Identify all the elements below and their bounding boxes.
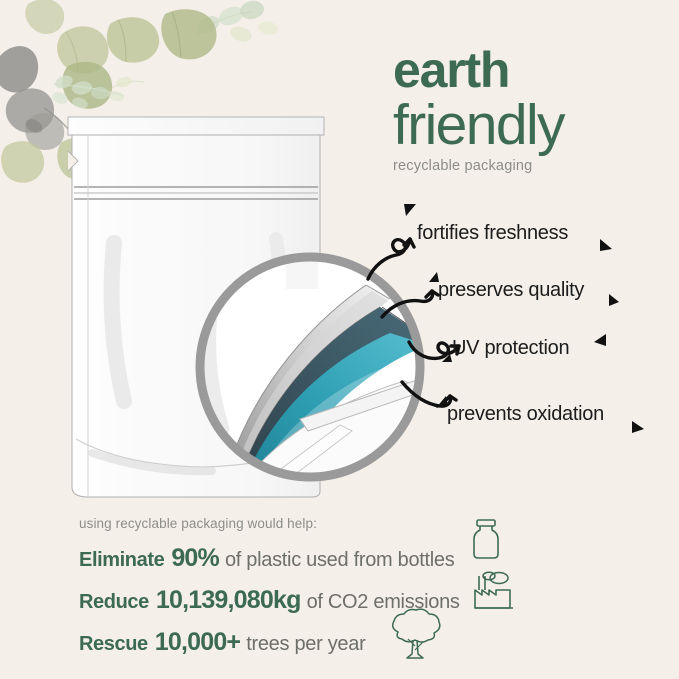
factory-icon (469, 570, 515, 610)
stat-label-reduce: Reduce (79, 591, 149, 614)
stat-value-eliminate: 90% (171, 544, 219, 573)
accent-mark-icon-6 (588, 330, 612, 354)
title-earth: earth (393, 44, 655, 96)
stat-row-rescue: Rescue 10,000+ trees per year (79, 628, 639, 657)
stat-label-rescue: Rescue (79, 633, 148, 656)
bottle-icon (469, 518, 503, 560)
callout-label-preserves-quality: preserves quality (438, 279, 584, 302)
accent-mark-icon-2 (596, 231, 622, 257)
stat-row-eliminate: Eliminate 90% of plastic used from bottl… (79, 544, 639, 573)
infographic-canvas: earth friendly recyclable packaging fort… (0, 0, 679, 679)
stat-rest-eliminate: of plastic used from bottles (225, 549, 455, 572)
callout-label-fortifies-freshness: fortifies freshness (417, 222, 568, 245)
accent-mark-icon-4 (605, 290, 627, 312)
stat-value-rescue: 10,000+ (155, 628, 240, 657)
callout-label-prevents-oxidation: prevents oxidation (447, 403, 604, 426)
stats-intro: using recyclable packaging would help: (79, 516, 639, 531)
stat-label-eliminate: Eliminate (79, 549, 164, 572)
title-friendly: friendly (393, 96, 655, 154)
stats-section: using recyclable packaging would help: E… (79, 516, 639, 670)
stat-row-reduce: Reduce 10,139,080kg of CO2 emissions (79, 586, 639, 615)
page-title-block: earth friendly recyclable packaging (393, 44, 655, 175)
stat-value-reduce: 10,139,080kg (156, 586, 301, 615)
callout-label-uv-protection: UV protection (452, 337, 569, 360)
tree-icon (384, 606, 446, 662)
stat-rest-rescue: trees per year (246, 633, 365, 656)
page-subtitle: recyclable packaging (393, 157, 655, 175)
accent-mark-icon-8 (628, 415, 652, 439)
